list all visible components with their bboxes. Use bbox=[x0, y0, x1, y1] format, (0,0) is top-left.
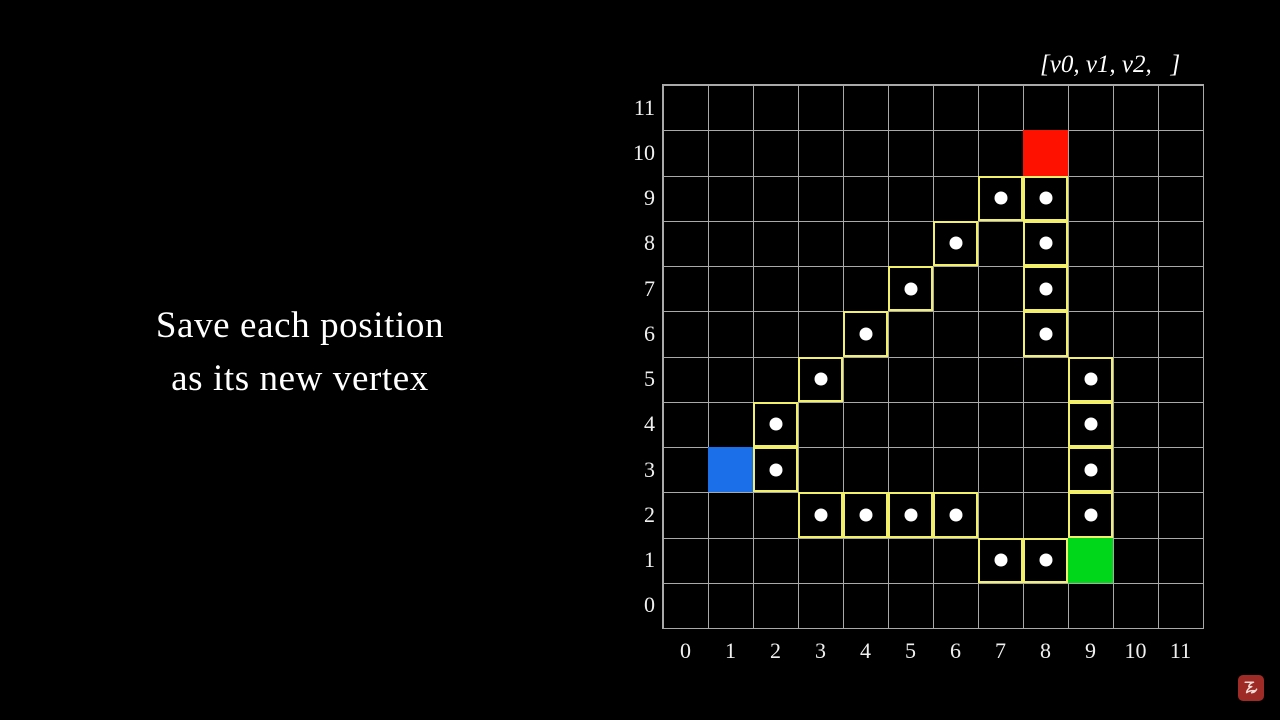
y-axis-tick-label: 5 bbox=[621, 368, 655, 390]
x-axis-tick-label: 11 bbox=[1158, 640, 1203, 662]
grid-line-horizontal bbox=[663, 130, 1203, 131]
y-axis-tick-label: 10 bbox=[621, 142, 655, 164]
y-axis-tick-label: 7 bbox=[621, 278, 655, 300]
grid-plot: 11109876543210 01234567891011 bbox=[663, 85, 1203, 628]
vertex-dot bbox=[904, 508, 917, 521]
vertex-dot bbox=[814, 373, 827, 386]
manim-logo bbox=[1238, 675, 1264, 701]
x-axis-tick-label: 9 bbox=[1068, 640, 1113, 662]
y-axis-tick-label: 2 bbox=[621, 504, 655, 526]
x-axis-tick-label: 3 bbox=[798, 640, 843, 662]
x-axis-tick-label: 8 bbox=[1023, 640, 1068, 662]
y-axis-tick-label: 4 bbox=[621, 413, 655, 435]
vertex-dot bbox=[814, 508, 827, 521]
vertex-dot bbox=[1039, 327, 1052, 340]
y-axis-tick-label: 1 bbox=[621, 549, 655, 571]
vertex-dot bbox=[1039, 237, 1052, 250]
grid-line-horizontal bbox=[663, 85, 1203, 86]
grid-lines bbox=[663, 85, 1203, 628]
vertex-dot bbox=[1039, 554, 1052, 567]
y-axis-tick-label: 8 bbox=[621, 232, 655, 254]
vertex-dot bbox=[904, 282, 917, 295]
vertex-dot bbox=[769, 418, 782, 431]
caption-line-1: Save each position bbox=[0, 300, 600, 353]
caption-text: Save each position as its new vertex bbox=[0, 300, 600, 405]
grid-line-horizontal bbox=[663, 538, 1203, 539]
grid-line-horizontal bbox=[663, 357, 1203, 358]
grid-line-horizontal bbox=[663, 402, 1203, 403]
y-axis-tick-label: 9 bbox=[621, 187, 655, 209]
vertex-dot bbox=[994, 554, 1007, 567]
vertex-dot bbox=[1084, 373, 1097, 386]
grid-line-horizontal bbox=[663, 176, 1203, 177]
vertex-dot bbox=[1084, 508, 1097, 521]
y-axis-tick-label: 6 bbox=[621, 323, 655, 345]
x-axis-tick-label: 4 bbox=[843, 640, 888, 662]
vertex-dot bbox=[1039, 282, 1052, 295]
x-axis-tick-label: 7 bbox=[978, 640, 1023, 662]
vertex-dot bbox=[859, 508, 872, 521]
logo-glyph-icon bbox=[1242, 679, 1260, 697]
vertex-dot bbox=[949, 237, 962, 250]
vertex-dot bbox=[859, 327, 872, 340]
grid-line-horizontal bbox=[663, 583, 1203, 584]
x-axis-tick-label: 5 bbox=[888, 640, 933, 662]
y-axis-tick-label: 11 bbox=[621, 97, 655, 119]
current-cell bbox=[1068, 538, 1113, 583]
vertex-dot bbox=[1039, 192, 1052, 205]
y-axis-tick-label: 3 bbox=[621, 459, 655, 481]
vertex-dot bbox=[1084, 418, 1097, 431]
grid-line-horizontal bbox=[663, 628, 1203, 629]
vertex-dot bbox=[994, 192, 1007, 205]
start-cell bbox=[708, 447, 753, 492]
x-axis-tick-label: 10 bbox=[1113, 640, 1158, 662]
vertex-dot bbox=[949, 508, 962, 521]
vertex-list-label: [v0, v1, v2, ] bbox=[1040, 51, 1180, 79]
goal-cell bbox=[1023, 130, 1068, 175]
caption-line-2: as its new vertex bbox=[0, 353, 600, 406]
grid-line-horizontal bbox=[663, 266, 1203, 267]
grid-line-horizontal bbox=[663, 311, 1203, 312]
vertex-dot bbox=[769, 463, 782, 476]
vertex-dot bbox=[1084, 463, 1097, 476]
y-axis-tick-label: 0 bbox=[621, 594, 655, 616]
x-axis-tick-label: 6 bbox=[933, 640, 978, 662]
x-axis-tick-label: 0 bbox=[663, 640, 708, 662]
x-axis-tick-label: 2 bbox=[753, 640, 798, 662]
x-axis-tick-label: 1 bbox=[708, 640, 753, 662]
grid-line-vertical bbox=[1203, 85, 1204, 628]
